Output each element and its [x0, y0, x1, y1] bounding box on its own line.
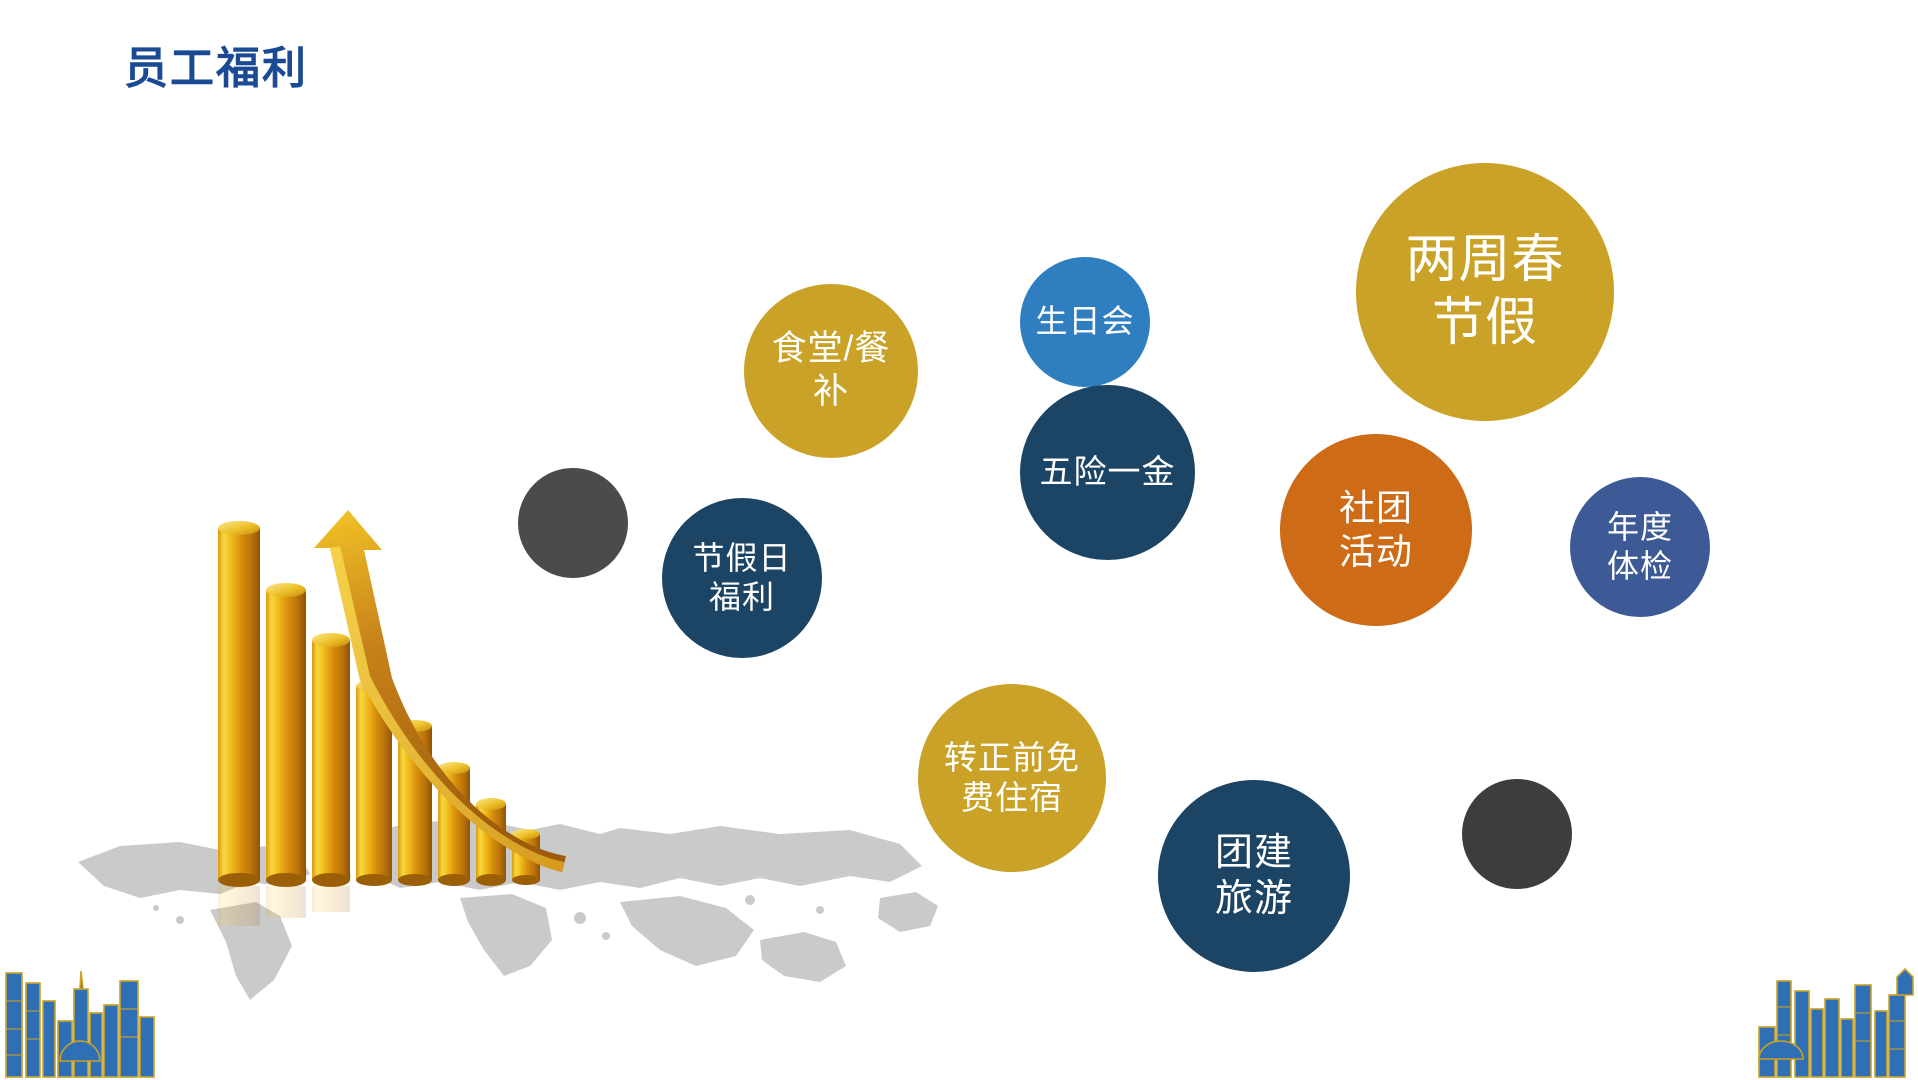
bubble-shitang-canbu[interactable]: 食堂/餐 补: [744, 284, 918, 458]
bubble-jiejiari-fuli[interactable]: 节假日 福利: [662, 498, 822, 658]
bubble-label: 节假日 福利: [692, 539, 791, 617]
bubble-liangzhou-chunjiejia[interactable]: 两周春 节假: [1356, 163, 1614, 421]
bubble-niandu-tijian[interactable]: 年度 体检: [1570, 477, 1710, 617]
city-skyline-right: [1755, 955, 1918, 1080]
bubble-shetuan-huodong[interactable]: 社团 活动: [1280, 434, 1472, 626]
slide-canvas: 员工福利 食堂/餐 补生日会两周春 节假五险一金节假日 福利社团 活动年度 体检…: [0, 0, 1918, 1080]
bubble-zhuanzheng-zhusu[interactable]: 转正前免 费住宿: [918, 684, 1106, 872]
bubble-gray-accent-1[interactable]: [518, 468, 628, 578]
bubble-label: 团建 旅游: [1215, 830, 1293, 923]
bubble-gray-accent-2[interactable]: [1462, 779, 1572, 889]
bubble-label: 生日会: [1035, 302, 1134, 341]
bubble-wuxian-yijin[interactable]: 五险一金: [1020, 385, 1195, 560]
bubble-label: 食堂/餐 补: [772, 328, 891, 413]
bubble-shengrihui[interactable]: 生日会: [1020, 257, 1150, 387]
bubble-label: 社团 活动: [1339, 486, 1413, 574]
bubble-label: 两周春 节假: [1405, 229, 1564, 356]
bubble-label: 年度 体检: [1607, 508, 1673, 586]
city-skyline-left: [0, 955, 180, 1080]
bubble-label: 五险一金: [1040, 452, 1176, 492]
bubble-label: 转正前免 费住宿: [944, 738, 1080, 819]
3d-gold-bar-chart: [210, 500, 690, 970]
page-title: 员工福利: [124, 32, 308, 96]
bubble-tuanjian-lvyou[interactable]: 团建 旅游: [1158, 780, 1350, 972]
